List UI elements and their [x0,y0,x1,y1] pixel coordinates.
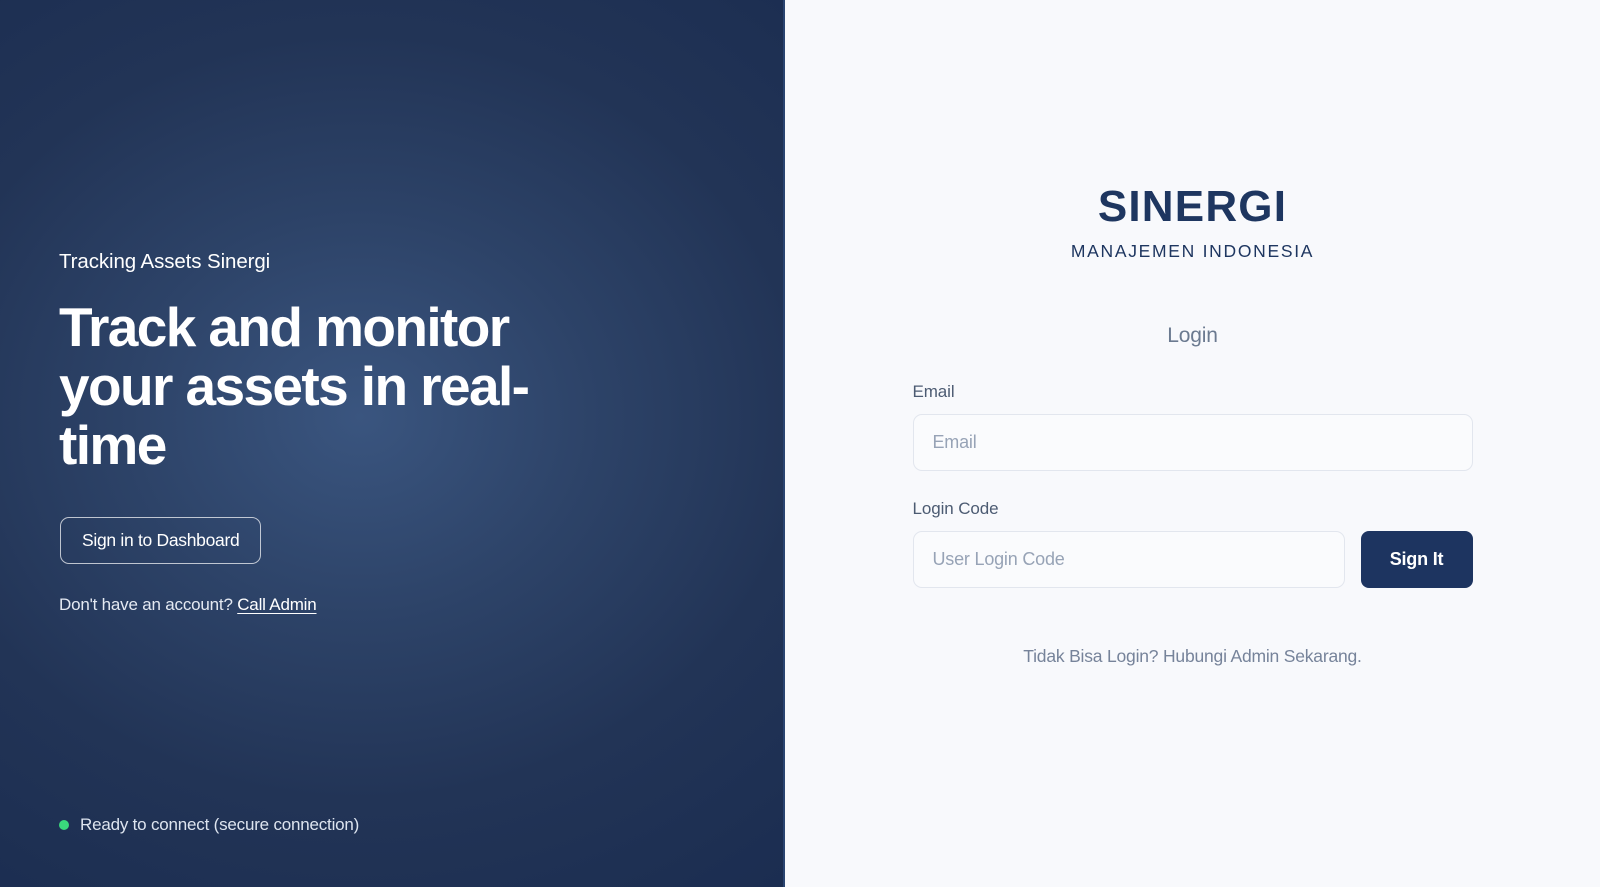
brand-logo: SINERGI MANAJEMEN INDONESIA [913,185,1473,262]
email-label: Email [913,382,1473,402]
account-prompt: Don't have an account? Call Admin [59,595,317,615]
connection-status-label: Ready to connect (secure connection) [80,815,359,835]
sign-in-to-dashboard-button[interactable]: Sign in to Dashboard [60,517,261,564]
call-admin-link[interactable]: Call Admin [237,595,316,614]
account-prompt-text: Don't have an account? [59,595,233,614]
login-help-text: Tidak Bisa Login? Hubungi Admin Sekarang… [913,646,1473,667]
login-form-container: SINERGI MANAJEMEN INDONESIA Login Email … [913,0,1473,667]
login-code-field-group: Login Code Sign It [913,499,1473,588]
hero-headline: Track and monitor your assets in real-ti… [59,298,599,475]
hero-eyebrow: Tracking Assets Sinergi [59,250,270,274]
status-dot-icon [59,820,69,830]
login-code-row: Sign It [913,531,1473,588]
login-code-input[interactable] [913,531,1345,588]
sign-it-button[interactable]: Sign It [1361,531,1473,588]
hero-panel: Tracking Assets Sinergi Track and monito… [0,0,785,887]
email-field-group: Email [913,382,1473,471]
login-code-label: Login Code [913,499,1473,519]
login-page: Tracking Assets Sinergi Track and monito… [0,0,1600,887]
hero-content: Tracking Assets Sinergi Track and monito… [59,0,679,887]
login-heading: Login [913,324,1473,348]
email-input[interactable] [913,414,1473,471]
brand-name: SINERGI [913,185,1473,229]
connection-status: Ready to connect (secure connection) [59,815,359,835]
brand-subtitle: MANAJEMEN INDONESIA [913,241,1473,262]
login-panel: SINERGI MANAJEMEN INDONESIA Login Email … [785,0,1600,887]
